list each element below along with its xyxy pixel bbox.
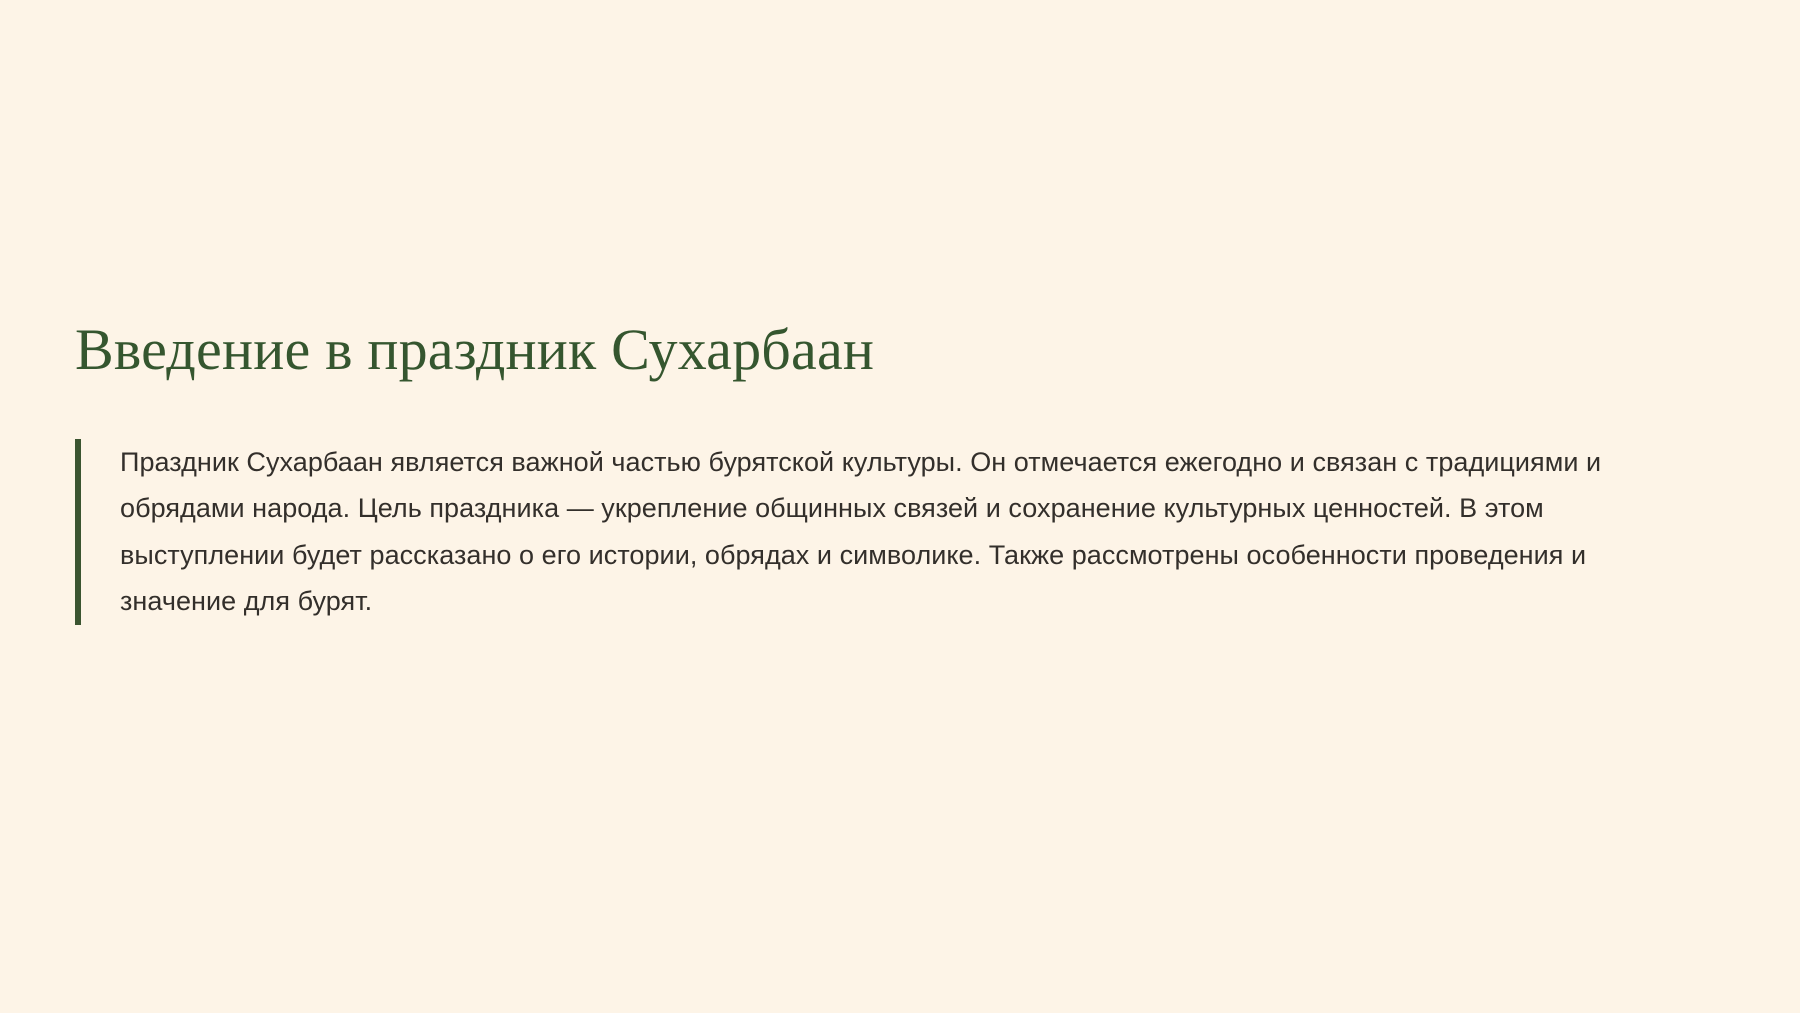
body-paragraph: Праздник Сухарбаан является важной часть… (120, 439, 1675, 625)
accent-bar (75, 439, 81, 625)
page-title: Введение в праздник Сухарбаан (75, 318, 1715, 383)
slide-canvas: Введение в праздник Сухарбаан Праздник С… (0, 0, 1800, 1013)
body-quote-block: Праздник Сухарбаан является важной часть… (75, 439, 1675, 625)
slide-content: Введение в праздник Сухарбаан Праздник С… (75, 318, 1715, 625)
